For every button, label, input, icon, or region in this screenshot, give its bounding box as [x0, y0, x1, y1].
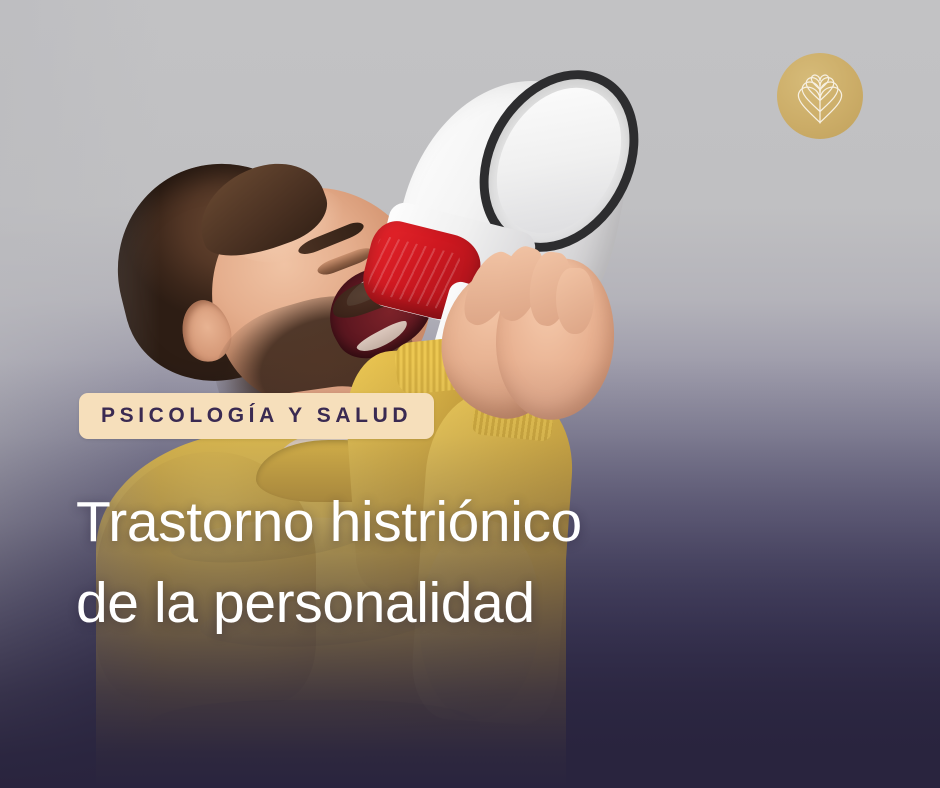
page-title-line-1: Trastorno histriónico — [76, 482, 736, 563]
category-badge[interactable]: PSICOLOGÍA Y SALUD — [79, 393, 434, 439]
poster-canvas: PSICOLOGÍA Y SALUD Trastorno histriónico… — [0, 0, 940, 788]
page-title: Trastorno histriónico de la personalidad — [76, 482, 736, 644]
nested-hearts-leaf-icon — [777, 53, 863, 139]
category-badge-label: PSICOLOGÍA Y SALUD — [101, 405, 412, 426]
page-title-line-2: de la personalidad — [76, 563, 736, 644]
brand-logo — [777, 53, 863, 139]
finger — [556, 268, 594, 334]
